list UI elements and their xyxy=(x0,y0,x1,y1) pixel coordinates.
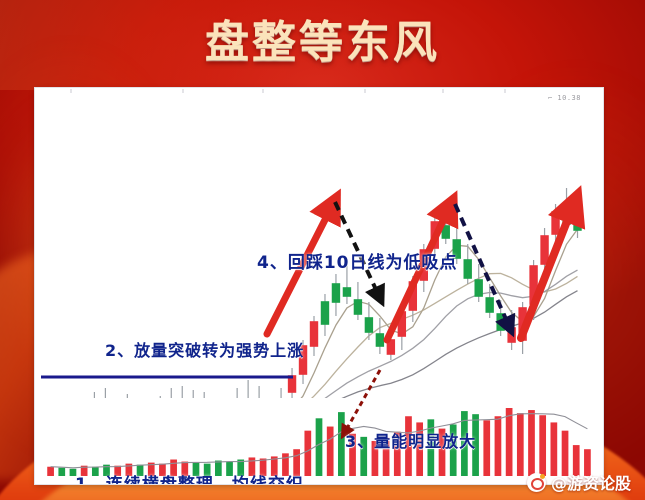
volume-bar xyxy=(327,427,334,476)
support-resistance-lines xyxy=(41,377,293,398)
slide-root: 盘整等东风 ⌐ 10.38 xyxy=(0,0,645,500)
candle-body xyxy=(344,288,351,296)
volume-bar xyxy=(304,431,311,476)
chart-panel: ⌐ 10.38 xyxy=(35,88,603,484)
volume-bar xyxy=(47,467,54,476)
candle-body xyxy=(322,302,329,324)
candle-body xyxy=(508,328,515,342)
volume-bar xyxy=(316,418,323,476)
candle-body xyxy=(475,280,482,296)
volume-area xyxy=(39,406,599,478)
volume-bar xyxy=(506,408,513,476)
candle-body xyxy=(552,212,559,234)
volume-chart xyxy=(39,406,599,478)
watermark: @游资论股 xyxy=(527,470,631,494)
candle-body xyxy=(541,236,548,264)
candle-body xyxy=(355,300,362,314)
volume-bar xyxy=(483,420,490,476)
volume-bar xyxy=(539,415,546,476)
candle-body xyxy=(574,220,581,230)
weibo-logo-icon xyxy=(527,473,546,492)
volume-bar xyxy=(551,422,558,476)
volume-bar xyxy=(58,468,65,476)
volume-bar xyxy=(338,412,345,476)
page-title: 盘整等东风 xyxy=(0,6,645,70)
candle-body xyxy=(311,322,318,346)
arrow-pullback-2 xyxy=(455,204,509,326)
arrow-up-2 xyxy=(387,208,449,340)
candle-body xyxy=(376,334,383,346)
annotation-2: 2、放量突破转为强势上涨 xyxy=(105,337,304,361)
volume-bar xyxy=(495,416,502,476)
arrow-up-3 xyxy=(521,206,573,338)
candle-body xyxy=(333,284,340,302)
candle-body xyxy=(464,260,471,278)
watermark-handle: @游资论股 xyxy=(551,470,631,494)
annotation-1: 1、连续横盘整理，均线交织 xyxy=(75,470,304,484)
annotation-3: 3、量能明显放大 xyxy=(345,428,476,452)
annotation-4: 4、回踩10日线为低吸点 xyxy=(257,248,458,273)
volume-bar xyxy=(517,413,524,476)
candle-body xyxy=(365,318,372,332)
candle-body xyxy=(486,298,493,312)
volume-bar xyxy=(528,410,535,476)
